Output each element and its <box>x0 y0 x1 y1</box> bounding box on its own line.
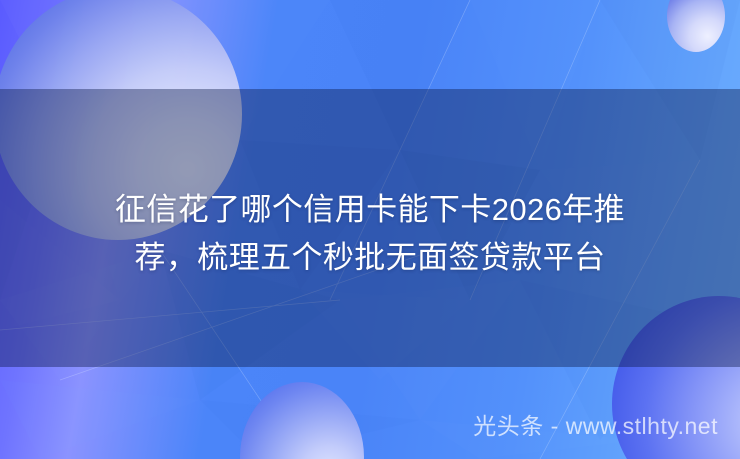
page-title: 征信花了哪个信用卡能下卡2026年推 荐，梳理五个秒批无面签贷款平台 <box>0 186 740 282</box>
watermark-text: 光头条 - www.stlhty.net <box>473 411 718 441</box>
title-line-2: 荐，梳理五个秒批无面签贷款平台 <box>26 234 714 282</box>
cover-image-canvas: 征信花了哪个信用卡能下卡2026年推 荐，梳理五个秒批无面签贷款平台 光头条 -… <box>0 0 740 459</box>
title-line-1: 征信花了哪个信用卡能下卡2026年推 <box>26 186 714 234</box>
